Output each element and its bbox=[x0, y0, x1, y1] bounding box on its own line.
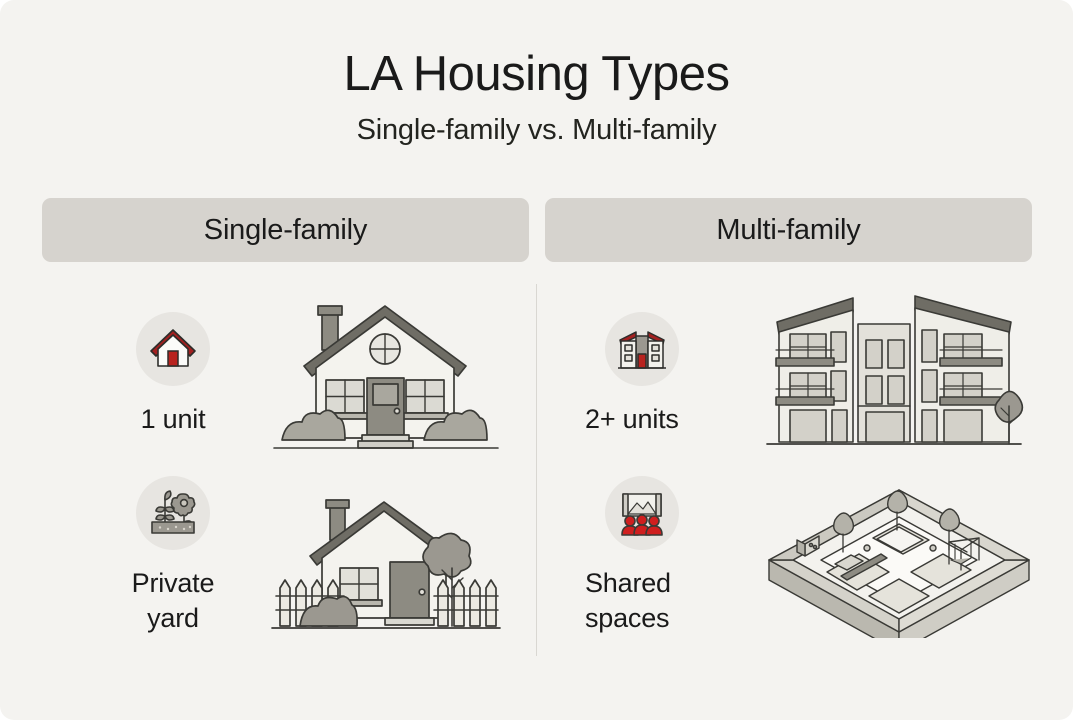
people-under-canopy-icon bbox=[605, 476, 679, 550]
feature-label: Shared spaces bbox=[585, 566, 671, 635]
column-header-label: Multi-family bbox=[716, 214, 860, 247]
single-family-house-illustration bbox=[266, 288, 506, 461]
infographic-poster: LA Housing Types Single-family vs. Multi… bbox=[0, 0, 1073, 720]
three-story-apartment-building-illustration bbox=[763, 288, 1025, 461]
apartment-building-icon bbox=[605, 312, 679, 386]
feature-label-block: 1 unit bbox=[80, 295, 266, 455]
column-header-label: Single-family bbox=[204, 214, 367, 247]
isometric-courtyard-playground-illustration bbox=[763, 468, 1035, 643]
house-icon bbox=[136, 312, 210, 386]
feature-label: Private yard bbox=[132, 566, 215, 635]
page-subtitle: Single-family vs. Multi-family bbox=[0, 114, 1073, 147]
feature-single-family-units: 1 unit bbox=[80, 288, 506, 461]
column-header-single-family: Single-family bbox=[42, 198, 529, 262]
plants-in-planter-icon bbox=[136, 476, 210, 550]
feature-multi-family-shared: Shared spaces bbox=[585, 468, 1035, 643]
feature-label-block: 2+ units bbox=[585, 295, 763, 455]
column-divider bbox=[536, 284, 537, 656]
column-header-multi-family: Multi-family bbox=[545, 198, 1032, 262]
feature-label-block: Private yard bbox=[80, 476, 266, 636]
feature-label: 2+ units bbox=[585, 402, 679, 437]
feature-label-block: Shared spaces bbox=[585, 476, 763, 636]
feature-multi-family-units: 2+ units bbox=[585, 288, 1025, 461]
feature-label: 1 unit bbox=[141, 402, 206, 437]
house-with-fence-and-tree-illustration bbox=[266, 468, 506, 643]
feature-single-family-yard: Private yard bbox=[80, 468, 506, 643]
page-title: LA Housing Types bbox=[0, 46, 1073, 102]
